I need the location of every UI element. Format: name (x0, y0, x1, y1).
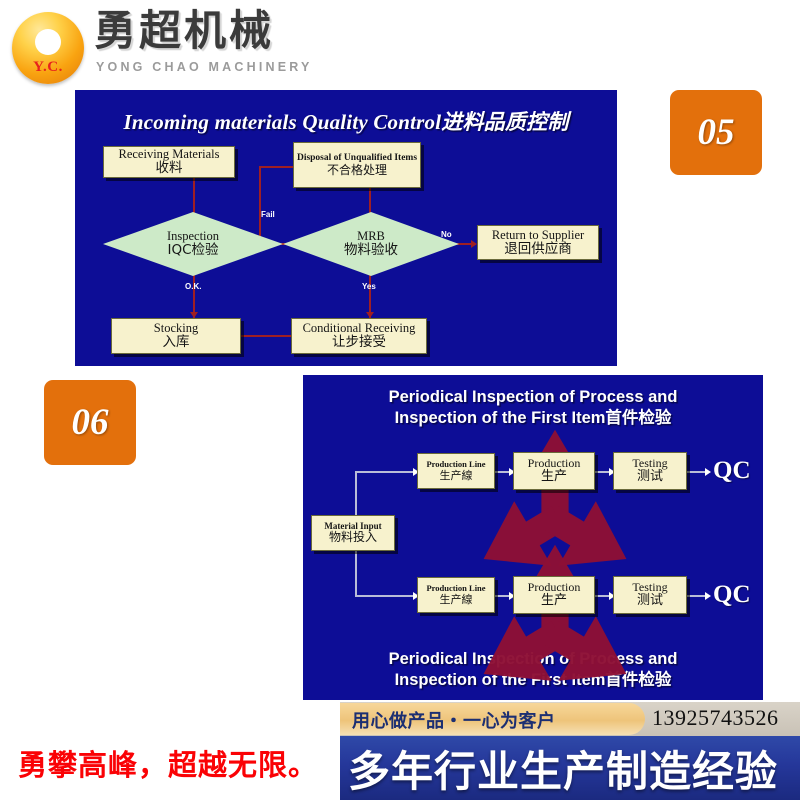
node-inspection-iqc: Inspection IQC检验 (103, 212, 283, 276)
site-header: Y.C. 勇超机械 YONG CHAO MACHINERY (0, 0, 800, 88)
node-production-line-row2: Production Line 生产線 (417, 577, 495, 613)
arrowhead-right (705, 592, 711, 600)
slide1-title: Incoming materials Quality Control进料品质控制 (75, 106, 617, 136)
node-label-cn: 测试 (637, 594, 663, 609)
node-label-cn: 物料投入 (329, 531, 377, 544)
node-label-cn: 不合格处理 (327, 164, 387, 177)
node-label-en: Testing (632, 581, 667, 594)
node-stocking: Stocking 入库 (111, 318, 241, 354)
logo-monogram: Y.C. (12, 59, 84, 76)
footer-banner: 用心做产品・一心为客户 13925743526 多年行业生产制造经验 (340, 702, 800, 800)
node-production-line-row1: Production Line 生产線 (417, 453, 495, 489)
node-qc-row2: QC (713, 581, 751, 609)
connector-conditional-to-stocking (241, 335, 291, 337)
node-label-en: MRB (357, 229, 385, 243)
node-qc-row1: QC (713, 457, 751, 485)
node-label-cn: 生产 (541, 594, 567, 609)
node-label-cn: 退回供应商 (504, 242, 572, 257)
node-label-cn: 让步接受 (332, 335, 386, 350)
node-testing-row2: Testing 测试 (613, 576, 687, 614)
arrowhead-right (705, 468, 711, 476)
connector-inspection-fail-v (259, 166, 261, 244)
node-label-cn: 生产線 (440, 594, 473, 606)
node-disposal-unqualified: Disposal of Unqualified Items 不合格处理 (293, 142, 421, 188)
node-label-cn: 物料验收 (344, 243, 398, 258)
node-label-cn: 入库 (163, 335, 190, 350)
slide-periodical-inspection: Periodical Inspection of Process and Ins… (303, 375, 763, 700)
node-label-cn: 生产線 (440, 470, 473, 482)
node-label-cn: 生产 (541, 470, 567, 485)
company-name-cn: 勇超机械 (94, 10, 274, 52)
node-production-row2: Production 生产 (513, 576, 595, 614)
node-label-en: Return to Supplier (492, 228, 584, 242)
node-production-row1: Production 生产 (513, 452, 595, 490)
edge-label-yes: Yes (362, 282, 376, 291)
banner-main-text: 多年行业生产制造经验 (348, 738, 778, 799)
logo-hole (35, 29, 61, 55)
node-label-cn: 收料 (156, 161, 183, 176)
banner-pill-text: 用心做产品・一心为客户 (352, 707, 556, 733)
recycle-watermark-icon (455, 538, 655, 700)
node-label-en: Production (528, 581, 581, 594)
node-label-cn: 测试 (637, 470, 663, 485)
company-logo-icon: Y.C. (12, 12, 84, 84)
connector-trunk-to-row1 (355, 471, 417, 473)
edge-label-ok: O.K. (185, 282, 201, 291)
connector-trunk-to-row2 (355, 595, 417, 597)
contact-phone: 13925743526 (652, 705, 779, 731)
node-label-cn: IQC检验 (167, 243, 218, 258)
node-testing-row1: Testing 测试 (613, 452, 687, 490)
node-return-to-supplier: Return to Supplier 退回供应商 (477, 225, 599, 260)
footer-slogan-red: 勇攀高峰，超越无限。 (18, 742, 318, 784)
connector-fail-to-disposal (259, 166, 295, 168)
edge-label-fail: Fail (261, 210, 275, 219)
node-mrb: MRB 物料验收 (283, 212, 459, 276)
node-material-input: Material Input 物料投入 (311, 515, 395, 551)
node-label-en: Stocking (154, 321, 198, 335)
slide-incoming-materials-qc: Incoming materials Quality Control进料品质控制… (75, 90, 617, 366)
slide2-title-top-line1: Periodical Inspection of Process and (303, 387, 763, 408)
section-badge-06: 06 (44, 380, 136, 465)
node-label-en: Testing (632, 457, 667, 470)
node-conditional-receiving: Conditional Receiving 让步接受 (291, 318, 427, 354)
node-label-en: Receiving Materials (118, 147, 219, 161)
node-label-en: Production (528, 457, 581, 470)
edge-label-no: No (441, 230, 452, 239)
section-badge-05: 05 (670, 90, 762, 175)
node-label-en: Inspection (167, 229, 219, 243)
company-name-en: YONG CHAO MACHINERY (96, 60, 313, 74)
banner-bottom-strip: 多年行业生产制造经验 (340, 736, 800, 800)
node-receiving-materials: Receiving Materials 收料 (103, 146, 235, 178)
node-label-en: Disposal of Unqualified Items (297, 153, 417, 164)
banner-top-strip: 用心做产品・一心为客户 13925743526 (340, 702, 800, 736)
